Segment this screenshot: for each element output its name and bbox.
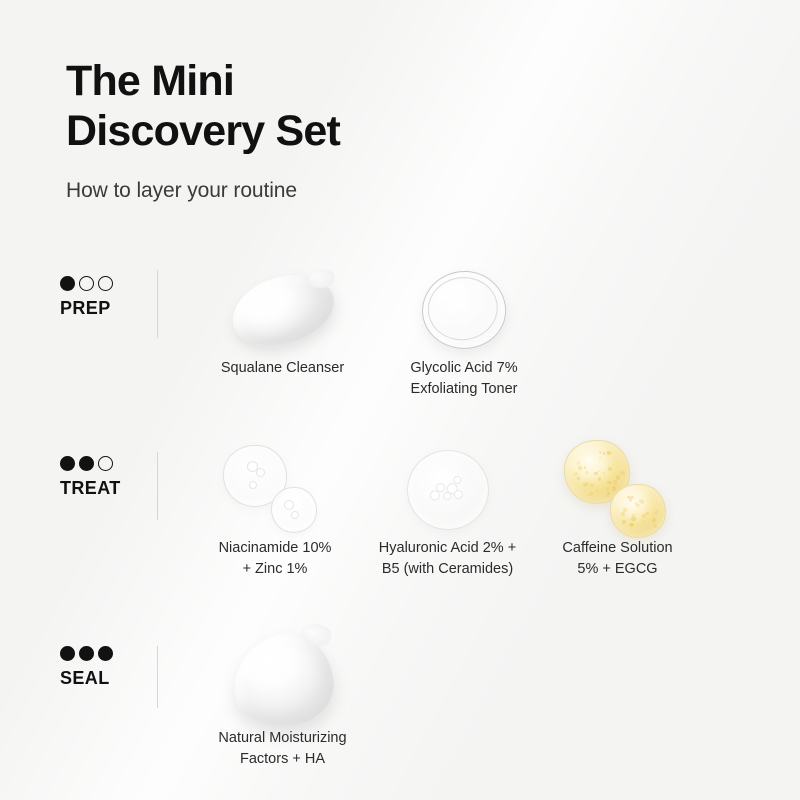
progress-dot-filled [79, 646, 94, 661]
swatch-container [535, 442, 700, 538]
product-name: Caffeine Solution 5% + EGCG [535, 538, 700, 580]
step-progress-dots-treat [60, 456, 144, 471]
product-caffeine-solution[interactable]: Caffeine Solution 5% + EGCG [535, 442, 700, 580]
step-marker-seal: SEAL [60, 646, 144, 689]
page-title: The Mini Discovery Set [66, 56, 340, 157]
product-niacinamide-zinc[interactable]: Niacinamide 10% + Zinc 1% [190, 442, 360, 580]
step-marker-treat: TREAT [60, 456, 144, 499]
progress-dot-filled [60, 276, 75, 291]
product-name: Niacinamide 10% + Zinc 1% [190, 538, 360, 580]
step-label-prep: PREP [60, 298, 144, 319]
swatch-container [190, 632, 375, 728]
product-squalane-cleanser[interactable]: Squalane Cleanser [190, 262, 375, 400]
product-list-prep: Squalane Cleanser Glycolic Acid 7% Exfol… [190, 262, 553, 400]
progress-dot-empty [79, 276, 94, 291]
swatch-container [190, 442, 360, 538]
progress-dot-filled [79, 456, 94, 471]
swatch-container [190, 262, 375, 358]
swatch-container [375, 262, 553, 358]
product-name: Hyaluronic Acid 2% + B5 (with Ceramides) [360, 538, 535, 580]
clear-ring-droplet-swatch-icon [417, 266, 511, 355]
step-label-seal: SEAL [60, 668, 144, 689]
product-name: Natural Moisturizing Factors + HA [190, 728, 375, 770]
product-name: Squalane Cleanser [190, 358, 375, 379]
progress-dot-empty [98, 456, 113, 471]
step-progress-dots-prep [60, 276, 144, 291]
step-divider [157, 270, 158, 338]
product-list-seal: Natural Moisturizing Factors + HA [190, 632, 375, 770]
cream-oval-swatch-icon [223, 264, 341, 356]
progress-dot-filled [60, 456, 75, 471]
header: The Mini Discovery Set How to layer your… [66, 56, 340, 203]
product-name: Glycolic Acid 7% Exfoliating Toner [375, 358, 553, 400]
product-list-treat: Niacinamide 10% + Zinc 1% Hyaluronic Aci… [190, 442, 700, 580]
bubble-circle-droplet-swatch-icon [407, 450, 489, 530]
step-divider [157, 452, 158, 520]
thick-cream-swatch-icon [227, 627, 339, 732]
step-divider [157, 646, 158, 708]
product-glycolic-acid-toner[interactable]: Glycolic Acid 7% Exfoliating Toner [375, 262, 553, 400]
product-hyaluronic-acid-b5[interactable]: Hyaluronic Acid 2% + B5 (with Ceramides) [360, 442, 535, 580]
golden-twin-droplet-swatch-icon [564, 440, 672, 540]
progress-dot-empty [98, 276, 113, 291]
progress-dot-filled [98, 646, 113, 661]
step-progress-dots-seal [60, 646, 144, 661]
twin-clear-droplet-swatch-icon [221, 443, 329, 537]
progress-dot-filled [60, 646, 75, 661]
step-marker-prep: PREP [60, 276, 144, 319]
swatch-container [360, 442, 535, 538]
step-label-treat: TREAT [60, 478, 144, 499]
product-natural-moisturizing-factors[interactable]: Natural Moisturizing Factors + HA [190, 632, 375, 770]
discovery-set-poster: The Mini Discovery Set How to layer your… [0, 0, 800, 800]
page-subtitle: How to layer your routine [66, 179, 340, 203]
